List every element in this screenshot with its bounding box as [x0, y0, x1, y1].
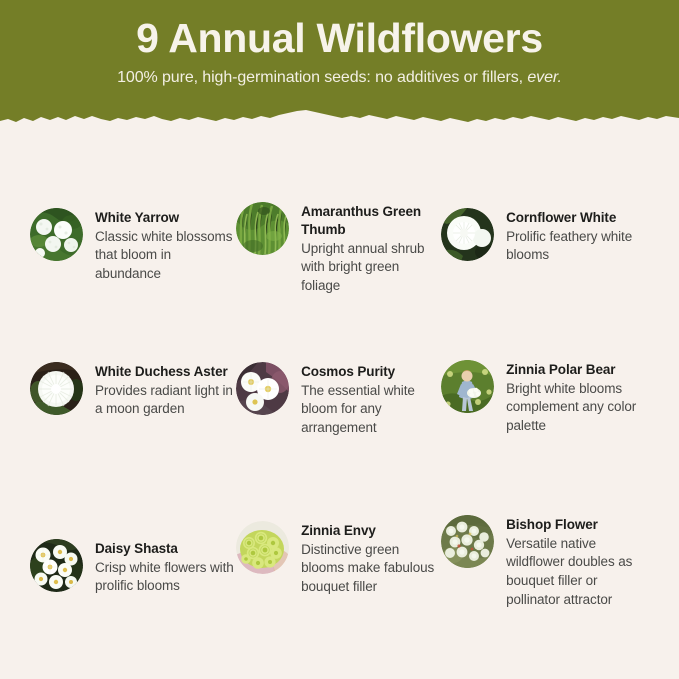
item-description: Bright white blooms complement any color… [506, 380, 654, 436]
header-banner-content: 9 Annual Wildflowers 100% pure, high-ger… [0, 0, 679, 118]
white-yarrow-photo [30, 208, 83, 261]
item-description: Upright annual shrub with bright green f… [301, 240, 441, 296]
list-item-text: Bishop Flower Versatile native wildflowe… [506, 515, 654, 609]
zinnia-envy-photo [236, 521, 289, 574]
list-row: White Yarrow Classic white blossoms that… [30, 190, 657, 348]
list-item-text: Zinnia Polar Bear Bright white blooms co… [506, 360, 654, 436]
list-item-text: Amaranthus Green Thumb Upright annual sh… [301, 202, 441, 296]
list-item[interactable]: Bishop Flower Versatile native wildflowe… [441, 503, 657, 609]
header-banner: 9 Annual Wildflowers 100% pure, high-ger… [0, 0, 679, 132]
item-name: Bishop Flower [506, 516, 654, 534]
item-description: Provides radiant light in a moon garden [95, 382, 235, 419]
zinnia-polar-bear-photo [441, 360, 494, 413]
bishop-flower-photo [441, 515, 494, 568]
amaranthus-green-thumb-photo [236, 202, 289, 255]
subtitle-emphasis-text: ever. [527, 69, 561, 86]
list-item[interactable]: Daisy Shasta Crisp white flowers with pr… [30, 503, 236, 596]
item-name: Cosmos Purity [301, 363, 441, 381]
list-item[interactable]: Amaranthus Green Thumb Upright annual sh… [236, 190, 441, 296]
item-name: Amaranthus Green Thumb [301, 203, 441, 239]
wildflower-list: White Yarrow Classic white blossoms that… [0, 190, 679, 653]
item-name: White Yarrow [95, 209, 235, 227]
list-item[interactable]: White Duchess Aster Provides radiant lig… [30, 348, 236, 419]
item-name: Cornflower White [506, 209, 654, 227]
item-name: Zinnia Envy [301, 522, 441, 540]
item-description: Crisp white flowers with prolific blooms [95, 559, 235, 596]
list-item[interactable]: Zinnia Polar Bear Bright white blooms co… [441, 348, 657, 436]
item-description: Classic white blossoms that bloom in abu… [95, 228, 235, 284]
list-item-text: White Duchess Aster Provides radiant lig… [95, 362, 235, 419]
page-subtitle: 100% pure, high-germination seeds: no ad… [117, 69, 562, 87]
item-name: Daisy Shasta [95, 540, 235, 558]
list-item-text: Zinnia Envy Distinctive green blooms mak… [301, 521, 441, 597]
subtitle-lead-text: 100% pure, high-germination seeds: no ad… [117, 69, 523, 86]
item-name: Zinnia Polar Bear [506, 361, 654, 379]
item-name: White Duchess Aster [95, 363, 235, 381]
item-description: Versatile native wildflower doubles as b… [506, 535, 654, 610]
daisy-shasta-photo [30, 539, 83, 592]
list-item[interactable]: Zinnia Envy Distinctive green blooms mak… [236, 503, 441, 597]
list-item[interactable]: Cosmos Purity The essential white bloom … [236, 348, 441, 438]
list-item-text: Daisy Shasta Crisp white flowers with pr… [95, 539, 235, 596]
torn-paper-edge-icon [0, 107, 679, 132]
list-row: Daisy Shasta Crisp white flowers with pr… [30, 503, 657, 653]
list-row: White Duchess Aster Provides radiant lig… [30, 348, 657, 503]
list-item[interactable]: Cornflower White Prolific feathery white… [441, 190, 657, 265]
cosmos-purity-photo [236, 362, 289, 415]
list-item[interactable]: White Yarrow Classic white blossoms that… [30, 190, 236, 284]
cornflower-white-photo [441, 208, 494, 261]
white-duchess-aster-photo [30, 362, 83, 415]
item-description: Prolific feathery white blooms [506, 228, 654, 265]
list-item-text: White Yarrow Classic white blossoms that… [95, 208, 235, 284]
page-title: 9 Annual Wildflowers [136, 17, 543, 60]
item-description: The essential white bloom for any arrang… [301, 382, 441, 438]
item-description: Distinctive green blooms make fabulous b… [301, 541, 441, 597]
list-item-text: Cosmos Purity The essential white bloom … [301, 362, 441, 438]
list-item-text: Cornflower White Prolific feathery white… [506, 208, 654, 265]
